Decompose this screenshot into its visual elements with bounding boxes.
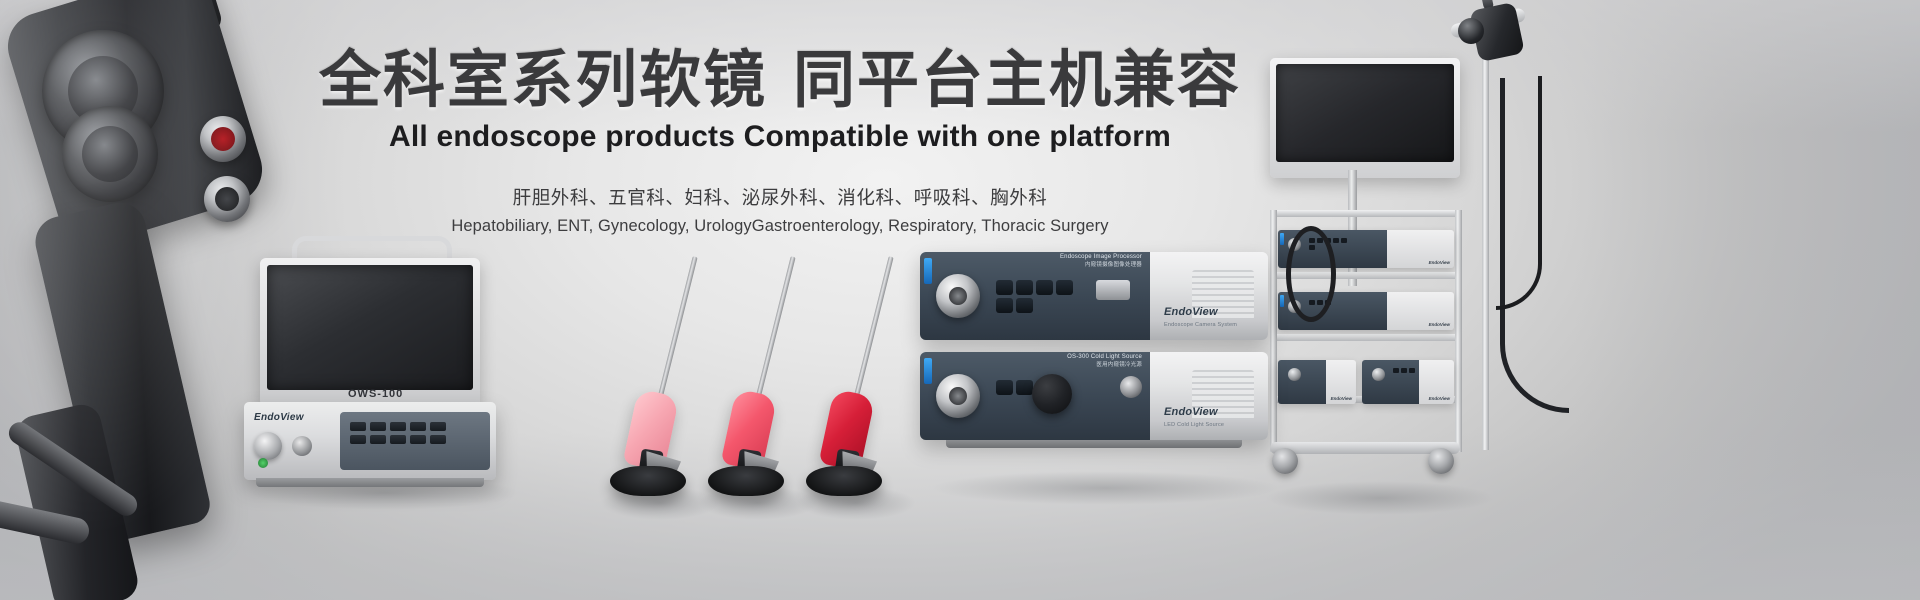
image-processor-unit: Endoscope Image Processor 内窥镜摄像图像处理器 End… — [920, 252, 1268, 340]
processor-label-chinese: 内窥镜摄像图像处理器 — [1085, 260, 1142, 268]
processor-button — [996, 280, 1013, 295]
processor-button — [1016, 280, 1033, 295]
keypad-key — [390, 422, 406, 431]
processor-usb-port — [1096, 280, 1130, 300]
processor-power-indicator — [924, 258, 932, 284]
workstation-secondary-dial — [292, 436, 312, 456]
cart-device-button — [1341, 238, 1347, 243]
keypad-key — [430, 422, 446, 431]
keypad-key — [410, 422, 426, 431]
workstation-model-label: OWS-100 — [348, 388, 403, 400]
cart-device-led — [1280, 295, 1284, 307]
workstation-feet — [256, 478, 484, 487]
processor-button — [1056, 280, 1073, 295]
headline-chinese-part2: 同平台主机兼容 — [793, 46, 1241, 115]
headline-chinese: 全科室系列软镜同平台主机兼容 — [0, 48, 1560, 114]
headline-english: All endoscope products Compatible with o… — [0, 120, 1560, 154]
instrument-stand-base — [610, 466, 686, 496]
headline-chinese-part1: 全科室系列软镜 — [319, 46, 767, 115]
workstation-main-dial — [254, 432, 282, 460]
processor-front-face: Endoscope Image Processor 内窥镜摄像图像处理器 — [920, 252, 1150, 340]
keypad-key — [390, 435, 406, 444]
lightsource-brand-label: EndoView — [1164, 406, 1218, 418]
lightsource-sublabel: LED Cold Light Source — [1164, 422, 1224, 428]
description-english: Hepatobiliary, ENT, Gynecology, UrologyG… — [0, 217, 1560, 236]
cart-vertical-post — [1455, 210, 1462, 452]
lightsource-fiber-socket — [1120, 376, 1142, 398]
laparoscopic-forceps-red — [788, 252, 918, 502]
instrument-stand-base — [806, 466, 882, 496]
cart-device-brand: EndoView — [1429, 396, 1450, 401]
cart-device-button — [1333, 238, 1339, 243]
lightsource-power-indicator — [924, 358, 932, 384]
product-banner: 全科室系列软镜同平台主机兼容 All endoscope products Co… — [0, 0, 1920, 600]
processor-main-knob — [936, 274, 980, 318]
instrument-shaft — [850, 256, 894, 412]
cart-device-shelf-3: EndoView — [1278, 360, 1356, 404]
cart-device-knob — [1372, 368, 1385, 381]
cart-rail — [1270, 334, 1462, 341]
cart-device-button — [1409, 368, 1415, 373]
processor-stack: Endoscope Image Processor 内窥镜摄像图像处理器 End… — [920, 252, 1280, 462]
keypad-key — [430, 435, 446, 444]
lightsource-main-knob — [936, 374, 980, 418]
keypad-key — [370, 435, 386, 444]
processor-button — [1036, 280, 1053, 295]
instrument-stand-base — [708, 466, 784, 496]
workstation-display-bezel — [260, 258, 480, 406]
processor-stack-feet — [946, 440, 1242, 448]
lightsource-intensity-dial — [1032, 374, 1072, 414]
cart-device-button — [1393, 368, 1399, 373]
cold-light-source-unit: OS-300 Cold Light Source 医用内窥镜冷光源 EndoVi… — [920, 352, 1268, 440]
cart-device-shelf-4: EndoView — [1362, 360, 1454, 404]
cart-scope-knob — [1458, 18, 1484, 44]
keypad-key — [370, 422, 386, 431]
lightsource-button — [996, 380, 1013, 395]
keypad-key — [410, 435, 426, 444]
processor-button — [996, 298, 1013, 313]
workstation-base-unit: OWS-100 EndoView — [244, 402, 496, 480]
workstation-power-led — [258, 458, 268, 468]
lightsource-label-chinese: 医用内窥镜冷光源 — [1096, 360, 1142, 368]
lightsource-button — [1016, 380, 1033, 395]
cart-device-brand: EndoView — [1429, 260, 1450, 265]
endoscope-workstation-monitor: OWS-100 EndoView — [238, 250, 498, 500]
cart-device-face — [1278, 360, 1326, 404]
processor-button — [1016, 298, 1033, 313]
workstation-brand-label: EndoView — [254, 412, 304, 423]
keypad-key — [350, 435, 366, 444]
cart-device-knob — [1288, 368, 1301, 381]
cart-device-button — [1401, 368, 1407, 373]
cart-device-buttons — [1392, 367, 1432, 383]
description-chinese: 肝胆外科、五官科、妇科、泌尿外科、消化科、呼吸科、胸外科 — [0, 184, 1560, 210]
processor-brand-label: EndoView — [1164, 306, 1218, 318]
processor-button-row — [994, 278, 1084, 314]
cart-device-brand: EndoView — [1331, 396, 1352, 401]
cart-device-brand: EndoView — [1429, 322, 1450, 327]
banner-text-block: 全科室系列软镜同平台主机兼容 All endoscope products Co… — [0, 48, 1560, 236]
cart-caster-wheel — [1428, 448, 1454, 474]
keypad-key — [350, 422, 366, 431]
workstation-display-screen — [267, 265, 473, 390]
workstation-keypad — [348, 420, 448, 460]
processor-sublabel: Endoscope Camera System — [1164, 322, 1237, 328]
processor-stack-shadow — [930, 471, 1280, 505]
cart-device-face — [1362, 360, 1419, 404]
cart-coiled-cable — [1286, 226, 1336, 322]
